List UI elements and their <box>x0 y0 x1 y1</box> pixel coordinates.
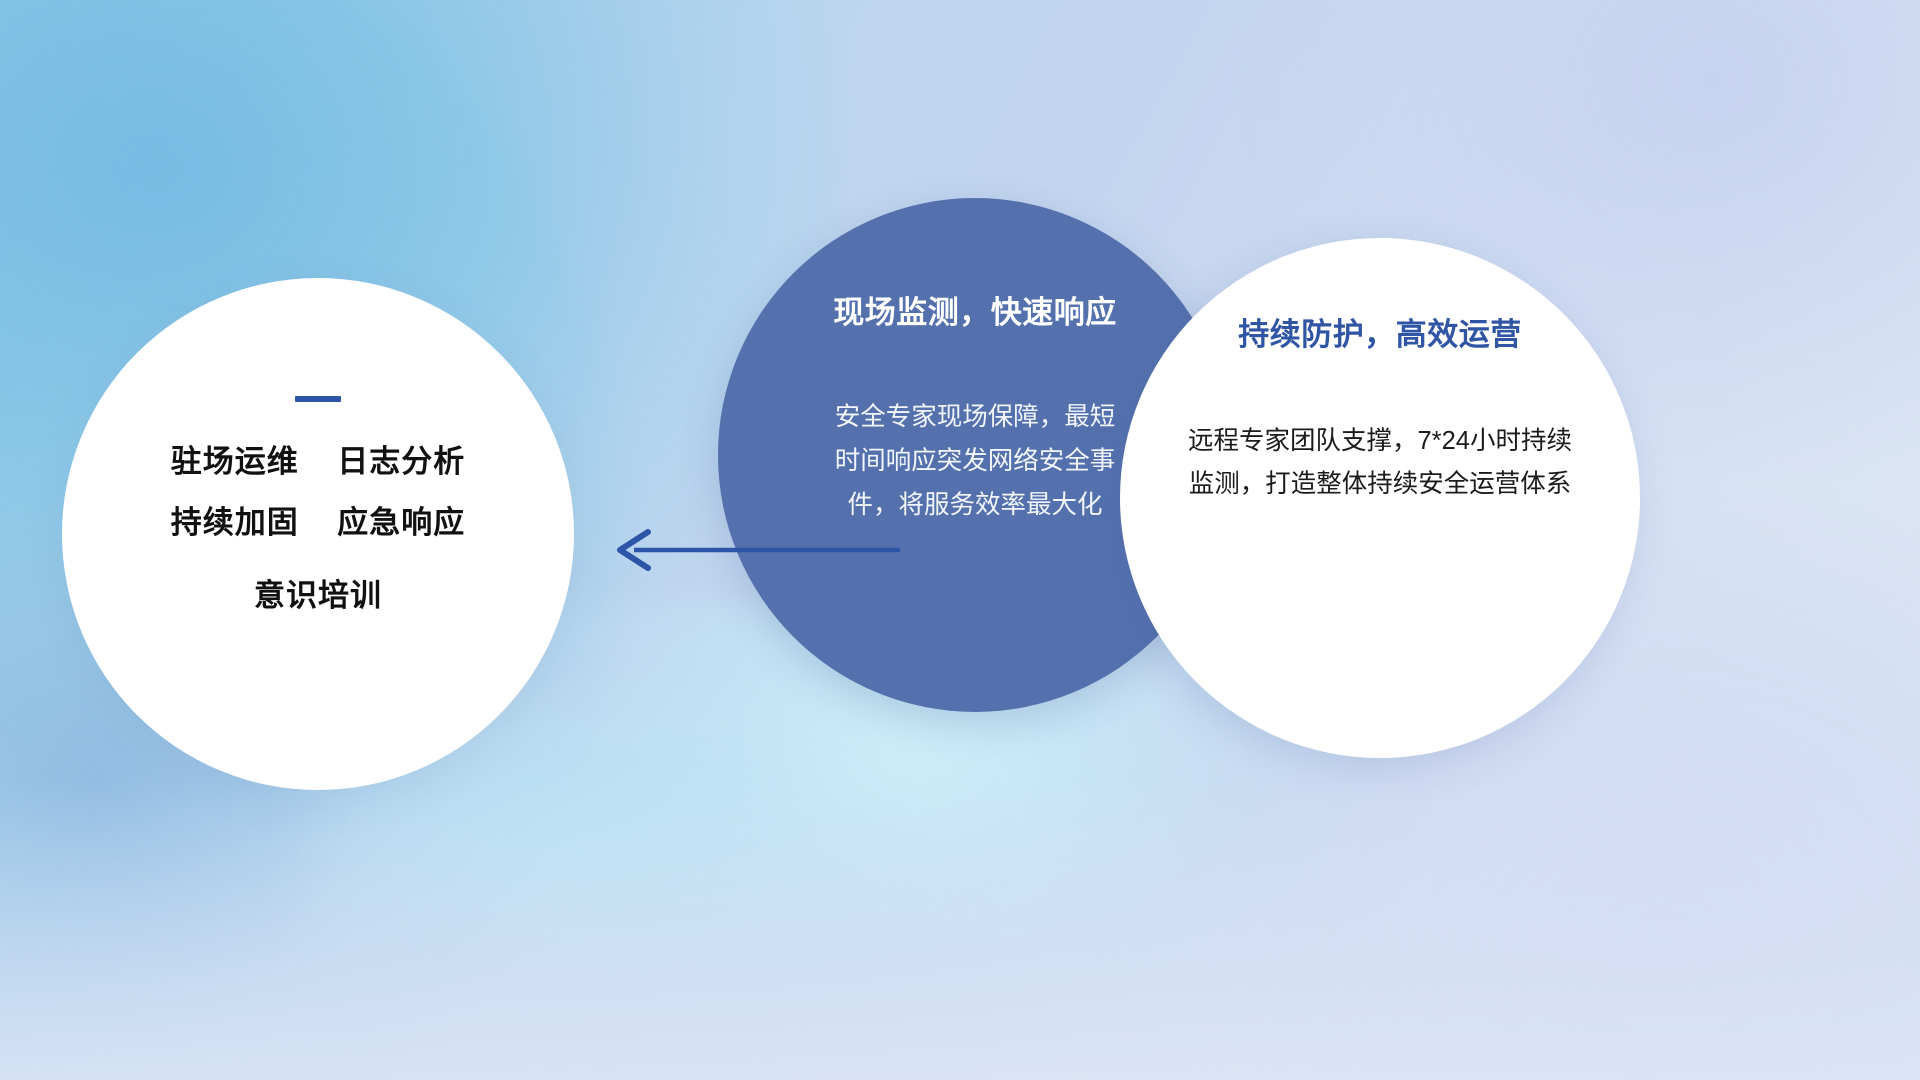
accent-dash-icon <box>295 396 341 402</box>
slide-canvas: 驻场运维 日志分析 持续加固 应急响应 意识培训 现场监测，快速响应 安全专家现… <box>0 0 1920 1080</box>
onsite-monitoring-title: 现场监测，快速响应 <box>833 296 1117 330</box>
keywords-circle: 驻场运维 日志分析 持续加固 应急响应 意识培训 <box>62 278 574 790</box>
continuous-protection-title: 持续防护，高效运营 <box>1238 318 1522 352</box>
keyword-line: 意识培训 <box>254 580 382 611</box>
keyword-line: 持续加固 应急响应 <box>171 507 465 538</box>
background-bottom-fade <box>0 780 1920 1080</box>
onsite-monitoring-body: 安全专家现场保障，最短时间响应突发网络安全事件，将服务效率最大化 <box>825 396 1125 528</box>
continuous-protection-body: 远程专家团队支撑，7*24小时持续监测，打造整体持续安全运营体系 <box>1185 420 1575 507</box>
continuous-protection-circle: 持续防护，高效运营 远程专家团队支撑，7*24小时持续监测，打造整体持续安全运营… <box>1120 238 1640 758</box>
keyword-line: 驻场运维 日志分析 <box>171 446 465 477</box>
